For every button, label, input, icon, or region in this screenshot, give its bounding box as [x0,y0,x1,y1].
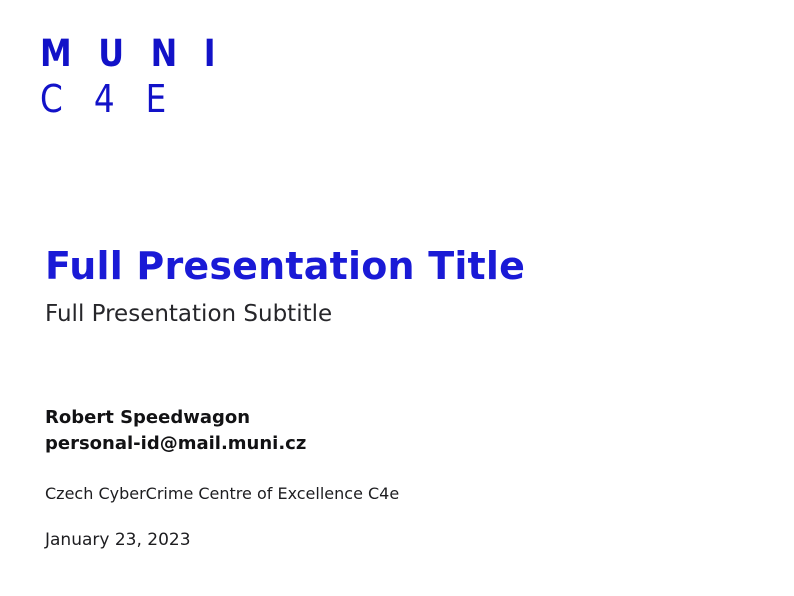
presentation-subtitle: Full Presentation Subtitle [45,298,745,330]
presentation-title: Full Presentation Title [45,243,745,289]
author-email: personal-id@mail.muni.cz [45,431,745,457]
title-slide: M U N I C 4 E Full Presentation Title Fu… [0,0,794,596]
title-block: Full Presentation Title Full Presentatio… [45,243,745,330]
muni-c4e-logo: M U N I C 4 E [40,34,253,120]
logo-muni-wordmark: M U N I [40,34,223,74]
author-meta-block: Robert Speedwagon personal-id@mail.muni.… [45,405,745,552]
presentation-date: January 23, 2023 [45,528,745,552]
institute-name: Czech CyberCrime Centre of Excellence C4… [45,482,745,506]
author-name: Robert Speedwagon [45,405,745,431]
logo-c4e-wordmark: C 4 E [40,78,223,120]
